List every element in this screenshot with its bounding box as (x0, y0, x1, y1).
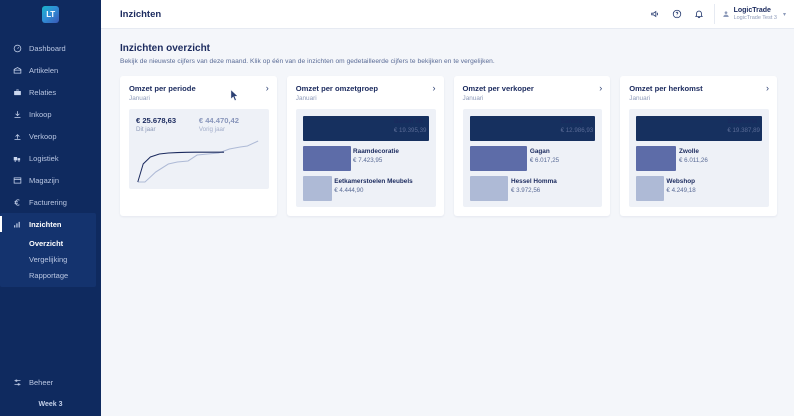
card-omzet-per-verkoper[interactable]: Omzet per verkoper Januari › Sandra € 12… (454, 76, 611, 216)
topbar-actions: LogicTrade LogicTrade Test 3 ▾ (644, 0, 794, 29)
revenue-line-chart (136, 138, 262, 183)
chevron-right-icon[interactable]: › (429, 84, 436, 93)
insight-cards: Omzet per periode Januari › € 25.678,63 … (120, 76, 777, 216)
sidebar-spacer (0, 287, 101, 372)
bar-name: Eetkamerstoelen Meubels (334, 178, 413, 186)
main-content: Inzichten overzicht Bekijk de nieuwste c… (101, 29, 794, 216)
card-period: Januari (463, 95, 534, 102)
bar-item: Webshop € 4.249,18 (636, 176, 762, 201)
bar-amount: € 19.387,89 (727, 127, 760, 135)
sidebar-item-magazijn[interactable]: Magazijn (0, 169, 101, 191)
sidebar-item-relaties[interactable]: Relaties (0, 81, 101, 103)
card-titles: Omzet per verkoper Januari (463, 84, 534, 102)
kpi-value: € 44.470,42 (199, 116, 262, 125)
bar-amount: € 12.986,93 (561, 127, 594, 135)
warehouse-icon (13, 176, 29, 185)
sidebar-nav: Dashboard Artikelen Relaties (0, 37, 101, 287)
chevron-right-icon[interactable]: › (262, 84, 269, 93)
page-subtitle: Bekijk de nieuwste cijfers van deze maan… (120, 58, 777, 65)
card-body: Sandra € 12.986,93 Gagan € 6.017,25 (463, 109, 603, 207)
card-titles: Omzet per periode Januari (129, 84, 196, 102)
card-title: Omzet per omzetgroep (296, 84, 378, 93)
chevron-right-icon[interactable]: › (762, 84, 769, 93)
kpi-current-year: € 25.678,63 Dit jaar (136, 116, 199, 133)
sidebar-item-label: Inkoop (29, 110, 52, 119)
bar-amount: € 4.444,90 (334, 187, 413, 195)
bar-fill (636, 176, 664, 201)
avatar-icon (722, 10, 730, 18)
bar-labels: Baden lift € 19.395,39 (394, 118, 427, 135)
bar-list: Baden lift € 19.395,39 Raamdecoratie € 7… (303, 116, 429, 201)
sidebar-item-dashboard[interactable]: Dashboard (0, 37, 101, 59)
sidebar-version: Week 3 (0, 392, 101, 416)
bar-fill (636, 146, 676, 171)
sidebar: LT Dashboard Artikelen (0, 0, 101, 416)
sidebar-subitem-vergelijking[interactable]: Vergelijking (0, 251, 96, 267)
card-title: Omzet per herkomst (629, 84, 702, 93)
sidebar-subitem-label: Rapportage (29, 271, 68, 280)
page-heading: Inzichten overzicht (120, 43, 777, 54)
bar-item: Zwolle € 6.011,26 (636, 146, 762, 171)
bar-labels: Webshop € 4.249,18 (666, 178, 695, 195)
bar-name: Gagan (530, 148, 559, 156)
sidebar-item-label: Logistiek (29, 154, 59, 163)
card-header: Omzet per periode Januari › (129, 84, 269, 102)
bar-name: Zwolle (679, 148, 708, 156)
euro-icon (13, 198, 29, 207)
sidebar-item-label: Facturering (29, 198, 67, 207)
sliders-icon (13, 378, 29, 387)
sidebar-item-inzichten[interactable]: Inzichten (0, 213, 96, 235)
card-omzet-per-periode[interactable]: Omzet per periode Januari › € 25.678,63 … (120, 76, 277, 216)
card-body: € 25.678,63 Dit jaar € 44.470,42 Vorig j… (129, 109, 269, 189)
topbar: Inzichten (101, 0, 794, 29)
card-body: Staphorst € 19.387,89 Zwolle € 6.011,26 (629, 109, 769, 207)
sidebar-item-label: Artikelen (29, 66, 58, 75)
bar-name: Staphorst (727, 118, 760, 126)
card-header: Omzet per herkomst Januari › (629, 84, 769, 102)
bar-list: Sandra € 12.986,93 Gagan € 6.017,25 (470, 116, 596, 201)
kpi-label: Vorig jaar (199, 126, 262, 133)
chevron-down-icon[interactable]: ▾ (783, 11, 786, 18)
briefcase-icon (13, 88, 29, 97)
logo-wrapper: LT (0, 0, 101, 29)
card-omzet-per-herkomst[interactable]: Omzet per herkomst Januari › Staphorst € (620, 76, 777, 216)
sidebar-subitem-overzicht[interactable]: Overzicht (0, 235, 96, 251)
bar-amount: € 7.423,95 (353, 157, 399, 165)
user-subtitle: LogicTrade Test 3 (734, 15, 777, 21)
bar-item: Raamdecoratie € 7.423,95 (303, 146, 429, 171)
card-title: Omzet per verkoper (463, 84, 534, 93)
content-area: Inzichten (101, 0, 794, 416)
card-header: Omzet per verkoper Januari › (463, 84, 603, 102)
bar-fill (470, 146, 528, 171)
bar-fill (303, 146, 351, 171)
user-menu[interactable]: LogicTrade LogicTrade Test 3 ▾ (714, 4, 794, 24)
bar-fill (303, 176, 332, 201)
sidebar-item-logistiek[interactable]: Logistiek (0, 147, 101, 169)
bar-labels: Eetkamerstoelen Meubels € 4.444,90 (334, 178, 413, 195)
bar-labels: Sandra € 12.986,93 (561, 118, 594, 135)
sidebar-item-facturering[interactable]: Facturering (0, 191, 101, 213)
bar-list: Staphorst € 19.387,89 Zwolle € 6.011,26 (636, 116, 762, 201)
bar-labels: Zwolle € 6.011,26 (679, 148, 708, 165)
sidebar-item-label: Inzichten (29, 220, 62, 229)
app-logo[interactable]: LT (42, 6, 59, 23)
card-titles: Omzet per omzetgroep Januari (296, 84, 378, 102)
bar-labels: Raamdecoratie € 7.423,95 (353, 148, 399, 165)
bar-name: Hessel Homma (511, 178, 557, 186)
kpi-value: € 25.678,63 (136, 116, 199, 125)
card-title: Omzet per periode (129, 84, 196, 93)
bar-item: Eetkamerstoelen Meubels € 4.444,90 (303, 176, 429, 201)
card-period: Januari (629, 95, 702, 102)
page-title-topbar: Inzichten (120, 9, 161, 20)
truck-icon (13, 154, 29, 163)
card-omzet-per-omzetgroep[interactable]: Omzet per omzetgroep Januari › Baden lif… (287, 76, 444, 216)
bar-labels: Staphorst € 19.387,89 (727, 118, 760, 135)
bar-labels: Gagan € 6.017,25 (530, 148, 559, 165)
upload-icon (13, 132, 29, 141)
card-period: Januari (296, 95, 378, 102)
line-series-previous-year (138, 141, 258, 182)
bar-item: Baden lift € 19.395,39 (303, 116, 429, 141)
sidebar-item-inkoop[interactable]: Inkoop (0, 103, 101, 125)
app-root: LT Dashboard Artikelen (0, 0, 794, 416)
sidebar-item-verkoop[interactable]: Verkoop (0, 125, 101, 147)
bar-item: Gagan € 6.017,25 (470, 146, 596, 171)
sidebar-beheer-label: Beheer (29, 378, 53, 387)
sidebar-item-label: Dashboard (29, 44, 66, 53)
user-name: LogicTrade (734, 7, 777, 15)
sidebar-item-artikelen[interactable]: Artikelen (0, 59, 101, 81)
help-circle-icon[interactable] (666, 0, 688, 29)
sidebar-item-label: Magazijn (29, 176, 59, 185)
bar-name: Baden lift (394, 118, 427, 126)
kpi-previous-year: € 44.470,42 Vorig jaar (199, 116, 262, 133)
bar-amount: € 6.017,25 (530, 157, 559, 165)
card-titles: Omzet per herkomst Januari (629, 84, 702, 102)
bar-amount: € 3.972,56 (511, 187, 557, 195)
bar-amount: € 19.395,39 (394, 127, 427, 135)
bar-amount: € 4.249,18 (666, 187, 695, 195)
bar-amount: € 6.011,26 (679, 157, 708, 165)
download-icon (13, 110, 29, 119)
user-info: LogicTrade LogicTrade Test 3 (734, 7, 777, 21)
bar-name: Sandra (561, 118, 594, 126)
bar-name: Raamdecoratie (353, 148, 399, 156)
card-period: Januari (129, 95, 196, 102)
bar-name: Webshop (666, 178, 695, 186)
sidebar-subitem-label: Vergelijking (29, 255, 67, 264)
sidebar-subitem-rapportage[interactable]: Rapportage (0, 267, 96, 283)
sidebar-group-inzichten: Inzichten Overzicht Vergelijking Rapport… (0, 213, 96, 287)
sidebar-item-beheer[interactable]: Beheer (0, 372, 101, 392)
line-series-current-year (138, 152, 224, 182)
bar-item: Hessel Homma € 3.972,56 (470, 176, 596, 201)
megaphone-icon[interactable] (644, 0, 666, 29)
bar-chart-icon (13, 220, 29, 229)
bar-item: Staphorst € 19.387,89 (636, 116, 762, 141)
kpi-row: € 25.678,63 Dit jaar € 44.470,42 Vorig j… (136, 116, 262, 133)
sidebar-subitem-label: Overzicht (29, 239, 63, 248)
box-icon (13, 66, 29, 75)
sidebar-item-label: Relaties (29, 88, 56, 97)
bar-item: Sandra € 12.986,93 (470, 116, 596, 141)
bell-icon[interactable] (688, 0, 710, 29)
card-body: Baden lift € 19.395,39 Raamdecoratie € 7… (296, 109, 436, 207)
bar-labels: Hessel Homma € 3.972,56 (511, 178, 557, 195)
kpi-label: Dit jaar (136, 126, 199, 133)
bar-fill (470, 176, 509, 201)
gauge-icon (13, 44, 29, 53)
chevron-right-icon[interactable]: › (595, 84, 602, 93)
card-header: Omzet per omzetgroep Januari › (296, 84, 436, 102)
sidebar-item-label: Verkoop (29, 132, 57, 141)
